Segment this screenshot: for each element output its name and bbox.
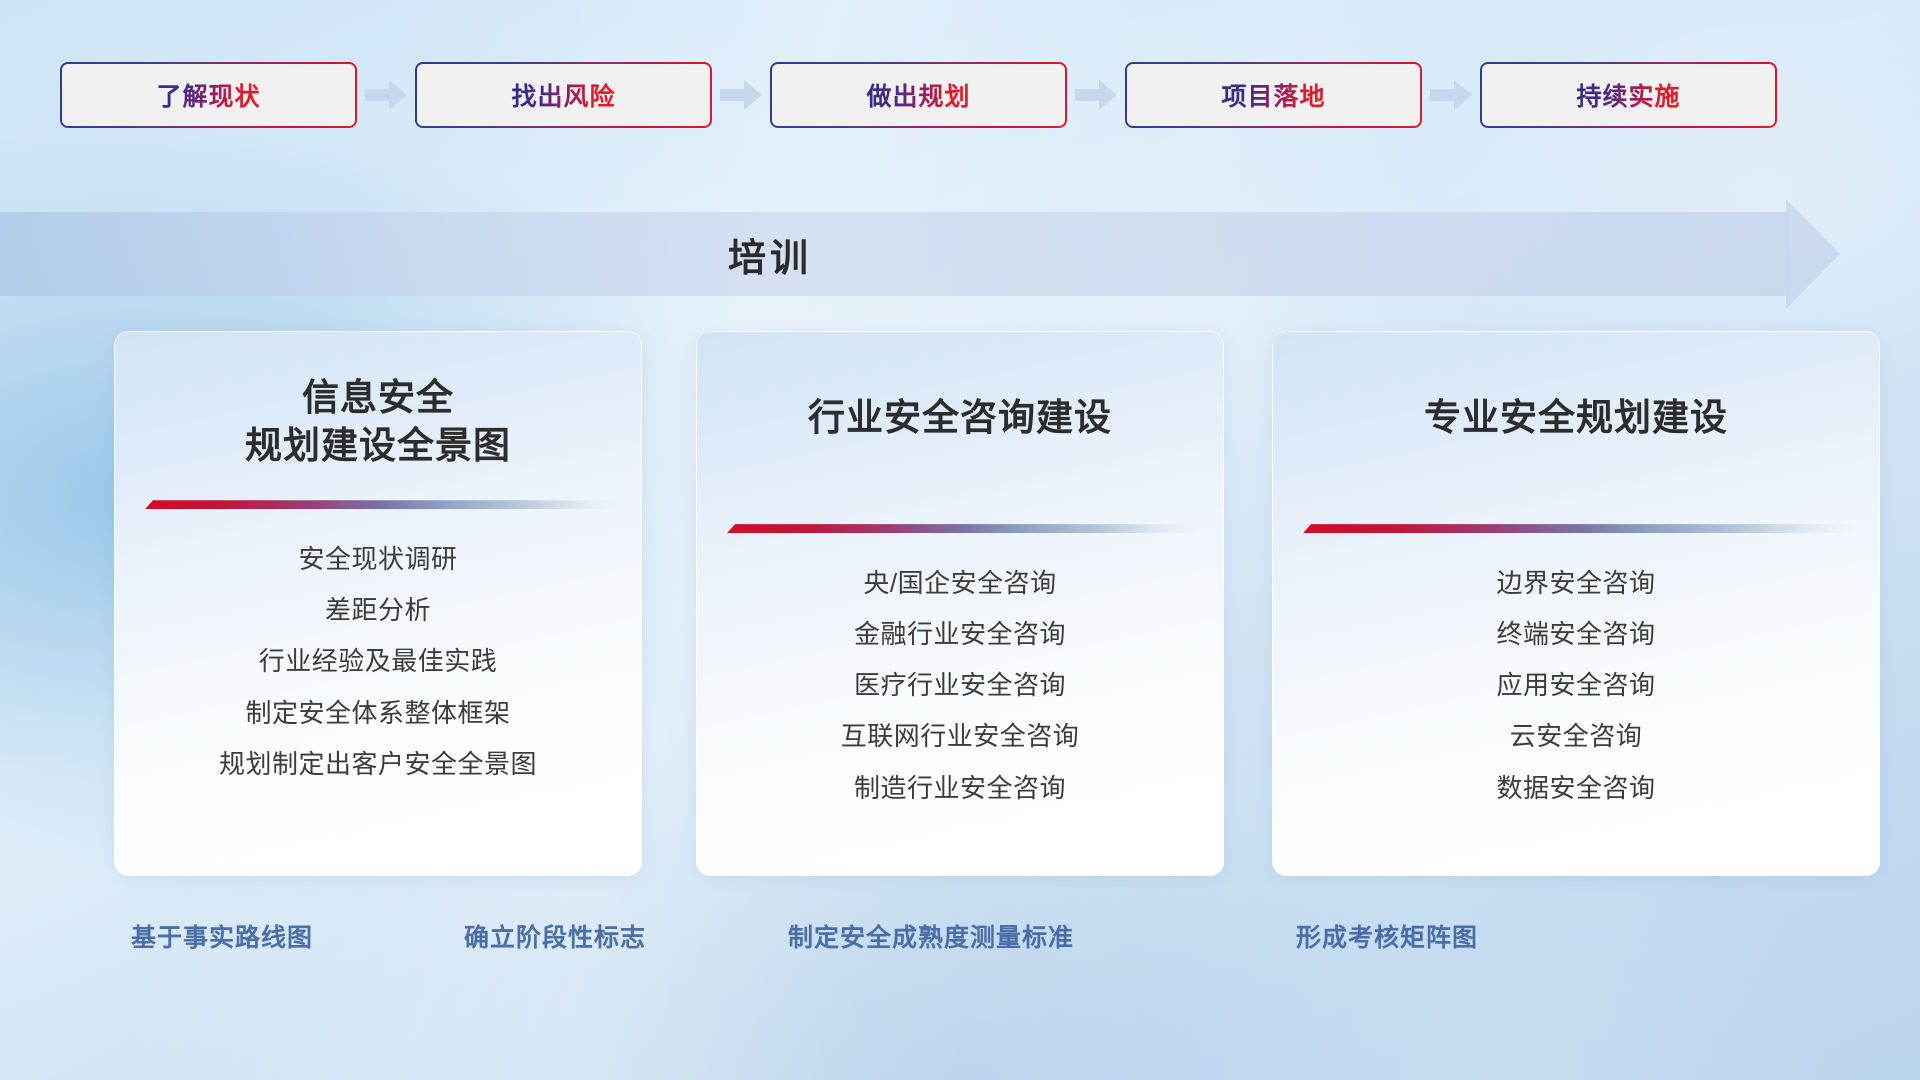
card-item-list: 安全现状调研 差距分析 行业经验及最佳实践 制定安全体系整体框架 规划制定出客户… <box>219 538 537 785</box>
step-item-2[interactable]: 找出风险 <box>415 62 712 128</box>
arrow-right-icon <box>1067 62 1125 128</box>
training-banner: 培训 <box>0 212 1836 296</box>
list-item: 安全现状调研 <box>298 538 457 580</box>
capability-cards: 信息安全 规划建设全景图 安全现状调研 差距分析 行业经验及最佳实践 制定安全体… <box>0 331 1920 876</box>
list-item: 行业经验及最佳实践 <box>259 640 498 682</box>
arrow-right-icon <box>712 62 770 128</box>
list-item: 央/国企安全咨询 <box>863 562 1056 604</box>
process-step-flow: 了解现状 找出风险 做出规划 项目落地 持续实施 <box>60 62 1860 128</box>
list-item: 互联网行业安全咨询 <box>841 715 1080 757</box>
card-title: 信息安全 规划建设全景图 <box>245 374 511 470</box>
card-item-list: 边界安全咨询 终端安全咨询 应用安全咨询 云安全咨询 数据安全咨询 <box>1496 562 1655 809</box>
caption-maturity-standard: 制定安全成熟度测量标准 <box>788 918 1074 954</box>
arrow-right-icon <box>357 62 415 128</box>
arrow-right-icon <box>1422 62 1480 128</box>
card-title-line: 规划建设全景图 <box>245 422 511 470</box>
card-information-security-blueprint[interactable]: 信息安全 规划建设全景图 安全现状调研 差距分析 行业经验及最佳实践 制定安全体… <box>114 331 642 876</box>
card-divider <box>1273 520 1879 540</box>
step-item-3[interactable]: 做出规划 <box>770 62 1067 128</box>
list-item: 边界安全咨询 <box>1496 562 1655 604</box>
caption-assessment-matrix: 形成考核矩阵图 <box>1296 918 1478 954</box>
card-title: 行业安全咨询建设 <box>808 394 1112 442</box>
step-label: 了解现状 <box>156 77 260 113</box>
card-title-line: 信息安全 <box>245 374 511 422</box>
list-item: 制造行业安全咨询 <box>854 767 1066 809</box>
card-wrapper-3: 专业安全规划建设 边界安全咨询 终端安全咨询 应用安全咨询 云安全咨询 数据安全… <box>1272 331 1880 876</box>
card-wrapper-1: 信息安全 规划建设全景图 安全现状调研 差距分析 行业经验及最佳实践 制定安全体… <box>114 331 642 876</box>
step-label: 项目落地 <box>1221 77 1325 113</box>
card-inner: 专业安全规划建设 边界安全咨询 终端安全咨询 应用安全咨询 云安全咨询 数据安全… <box>1272 331 1880 876</box>
list-item: 规划制定出客户安全全景图 <box>219 743 537 785</box>
list-item: 制定安全体系整体框架 <box>245 692 510 734</box>
banner-title: 培训 <box>0 212 1540 296</box>
step-item-5[interactable]: 持续实施 <box>1480 62 1777 128</box>
outcome-captions: 基于事实路线图 确立阶段性标志 制定安全成熟度测量标准 形成考核矩阵图 <box>0 918 1920 964</box>
card-inner: 信息安全 规划建设全景图 安全现状调研 差距分析 行业经验及最佳实践 制定安全体… <box>114 331 642 876</box>
step-label: 找出风险 <box>511 77 615 113</box>
step-item-1[interactable]: 了解现状 <box>60 62 357 128</box>
list-item: 终端安全咨询 <box>1496 613 1655 655</box>
list-item: 数据安全咨询 <box>1496 767 1655 809</box>
caption-milestones: 确立阶段性标志 <box>464 918 646 954</box>
card-title-line: 专业安全规划建设 <box>1424 394 1728 442</box>
card-divider <box>115 496 641 516</box>
card-professional-security-planning[interactable]: 专业安全规划建设 边界安全咨询 终端安全咨询 应用安全咨询 云安全咨询 数据安全… <box>1272 331 1880 876</box>
card-wrapper-2: 行业安全咨询建设 央/国企安全咨询 金融行业安全咨询 医疗行业安全咨询 互联网行… <box>696 331 1224 876</box>
step-label: 做出规划 <box>866 77 970 113</box>
list-item: 云安全咨询 <box>1510 715 1643 757</box>
card-title: 专业安全规划建设 <box>1424 394 1728 442</box>
banner-arrow-head-icon <box>1786 199 1840 309</box>
list-item: 差距分析 <box>325 589 431 631</box>
list-item: 医疗行业安全咨询 <box>854 664 1066 706</box>
card-industry-security-consulting[interactable]: 行业安全咨询建设 央/国企安全咨询 金融行业安全咨询 医疗行业安全咨询 互联网行… <box>696 331 1224 876</box>
list-item: 金融行业安全咨询 <box>854 613 1066 655</box>
step-item-4[interactable]: 项目落地 <box>1125 62 1422 128</box>
step-label: 持续实施 <box>1576 77 1680 113</box>
card-divider <box>697 520 1223 540</box>
card-title-line: 行业安全咨询建设 <box>808 394 1112 442</box>
card-item-list: 央/国企安全咨询 金融行业安全咨询 医疗行业安全咨询 互联网行业安全咨询 制造行… <box>841 562 1080 809</box>
list-item: 应用安全咨询 <box>1496 664 1655 706</box>
caption-roadmap: 基于事实路线图 <box>131 918 313 954</box>
card-inner: 行业安全咨询建设 央/国企安全咨询 金融行业安全咨询 医疗行业安全咨询 互联网行… <box>696 331 1224 876</box>
